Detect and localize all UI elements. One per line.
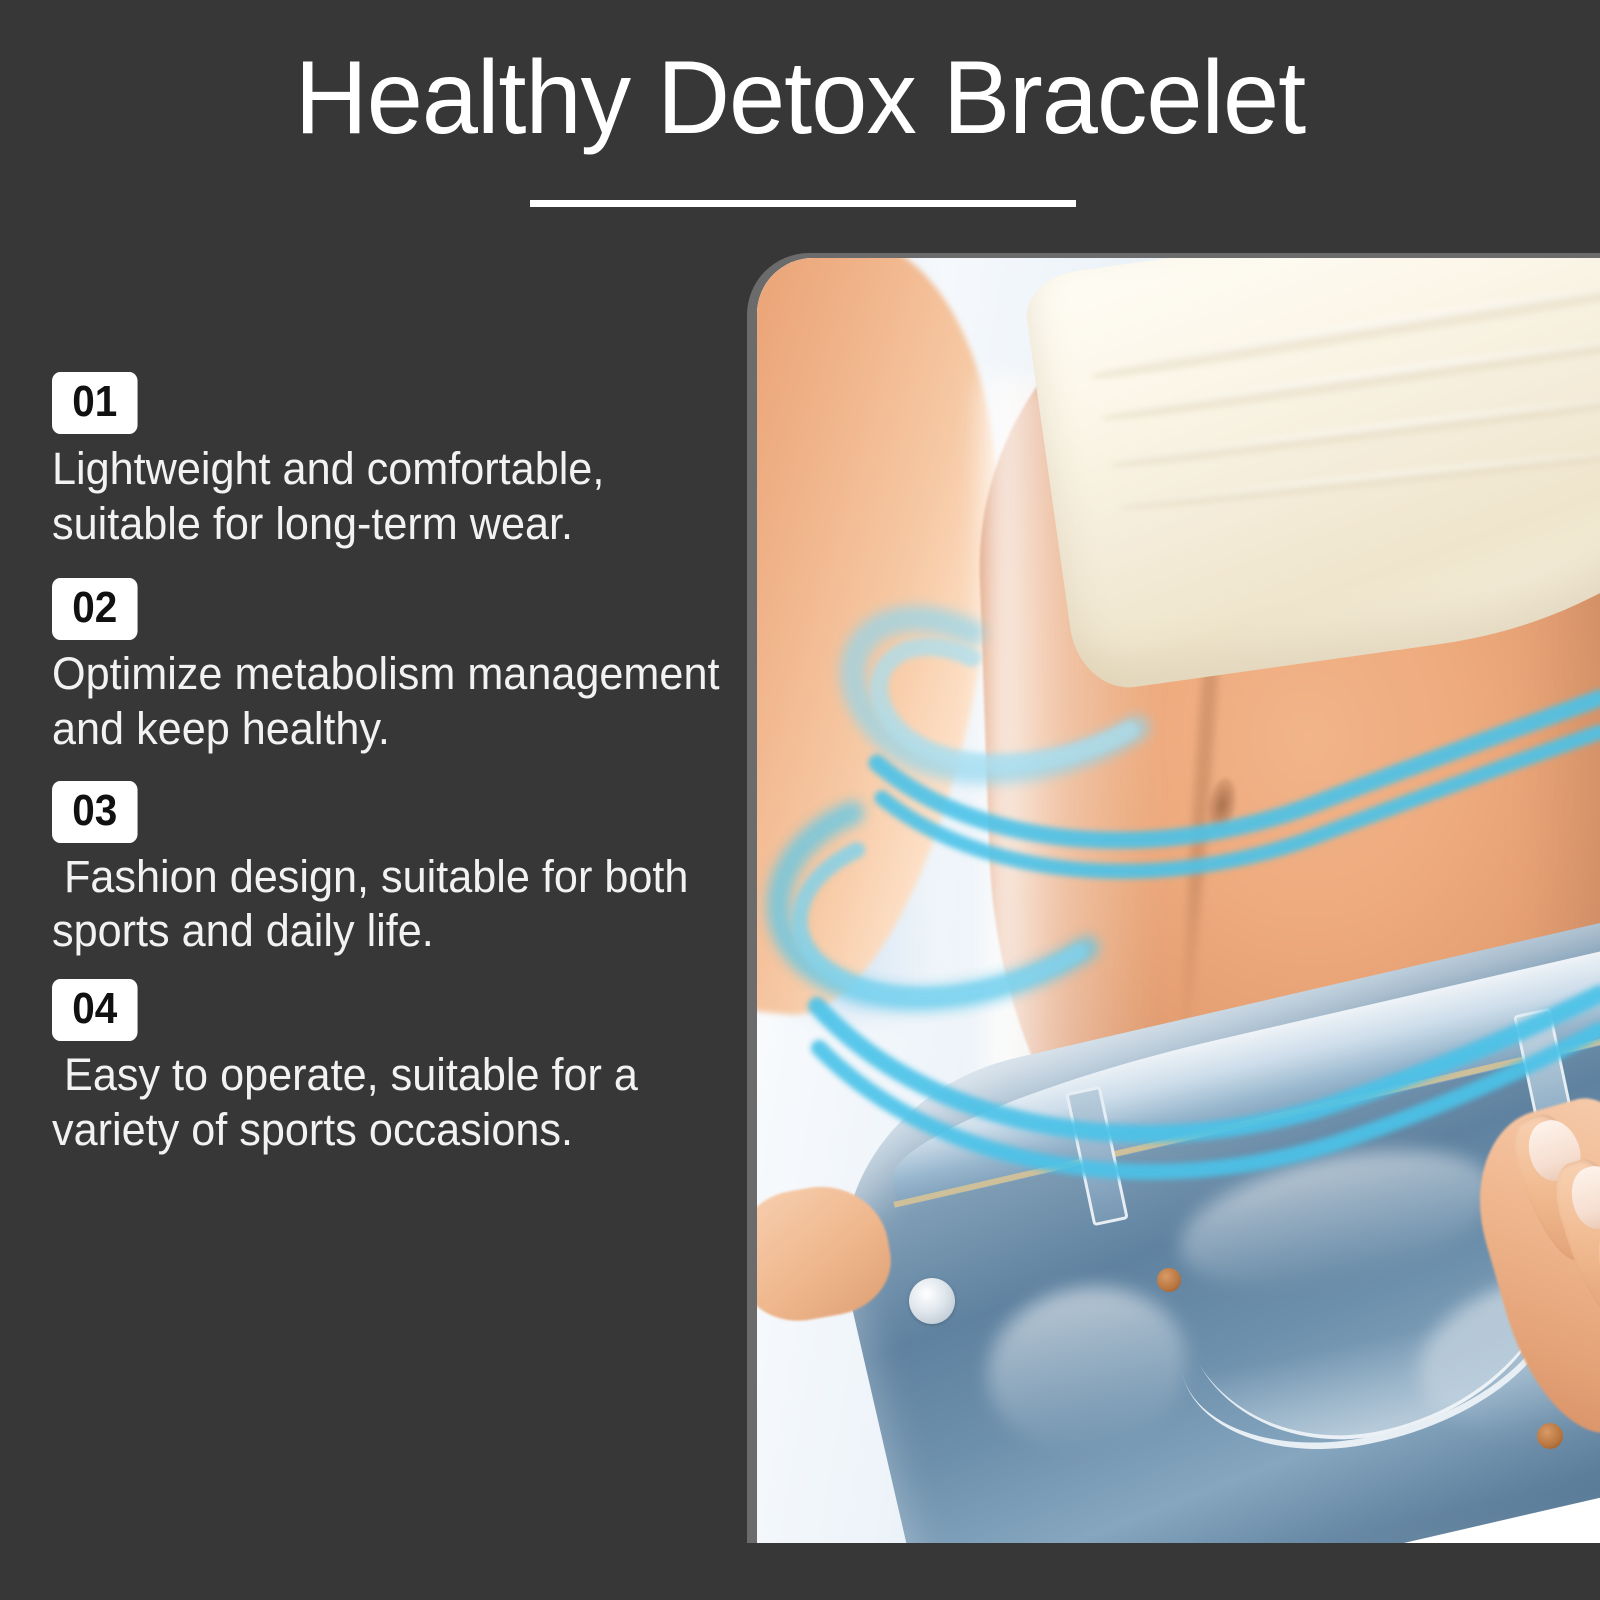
jeans-rivet [1537,1423,1563,1449]
list-item: 03 Fashion design, suitable for both spo… [52,781,752,960]
feature-description: Fashion design, suitable for both sports… [52,850,724,960]
product-photo-panel [747,253,1600,1543]
infographic-page: Healthy Detox Bracelet 01 Lightweight an… [0,0,1600,1600]
list-item: 01 Lightweight and comfortable, suitable… [52,372,752,552]
jeans-button [909,1278,955,1324]
feature-description: Optimize metabolism management and keep … [52,647,724,757]
title-underline-rule [530,200,1076,207]
title-block: Healthy Detox Bracelet [0,44,1600,153]
list-item: 02 Optimize metabolism management and ke… [52,578,752,757]
product-photo [757,258,1600,1543]
list-item: 04 Easy to operate, suitable for a varie… [52,979,752,1158]
feature-description: Lightweight and comfortable, suitable fo… [52,442,724,552]
feature-number-badge: 02 [52,578,138,640]
feature-number-badge: 03 [52,781,138,843]
bottom-bar [0,1543,1600,1600]
feature-list: 01 Lightweight and comfortable, suitable… [52,372,752,1174]
feature-number-badge: 04 [52,979,138,1041]
page-title: Healthy Detox Bracelet [24,44,1576,153]
feature-number-badge: 01 [52,372,138,434]
feature-description: Easy to operate, suitable for a variety … [52,1048,724,1158]
jeans-rivet [1157,1268,1181,1292]
